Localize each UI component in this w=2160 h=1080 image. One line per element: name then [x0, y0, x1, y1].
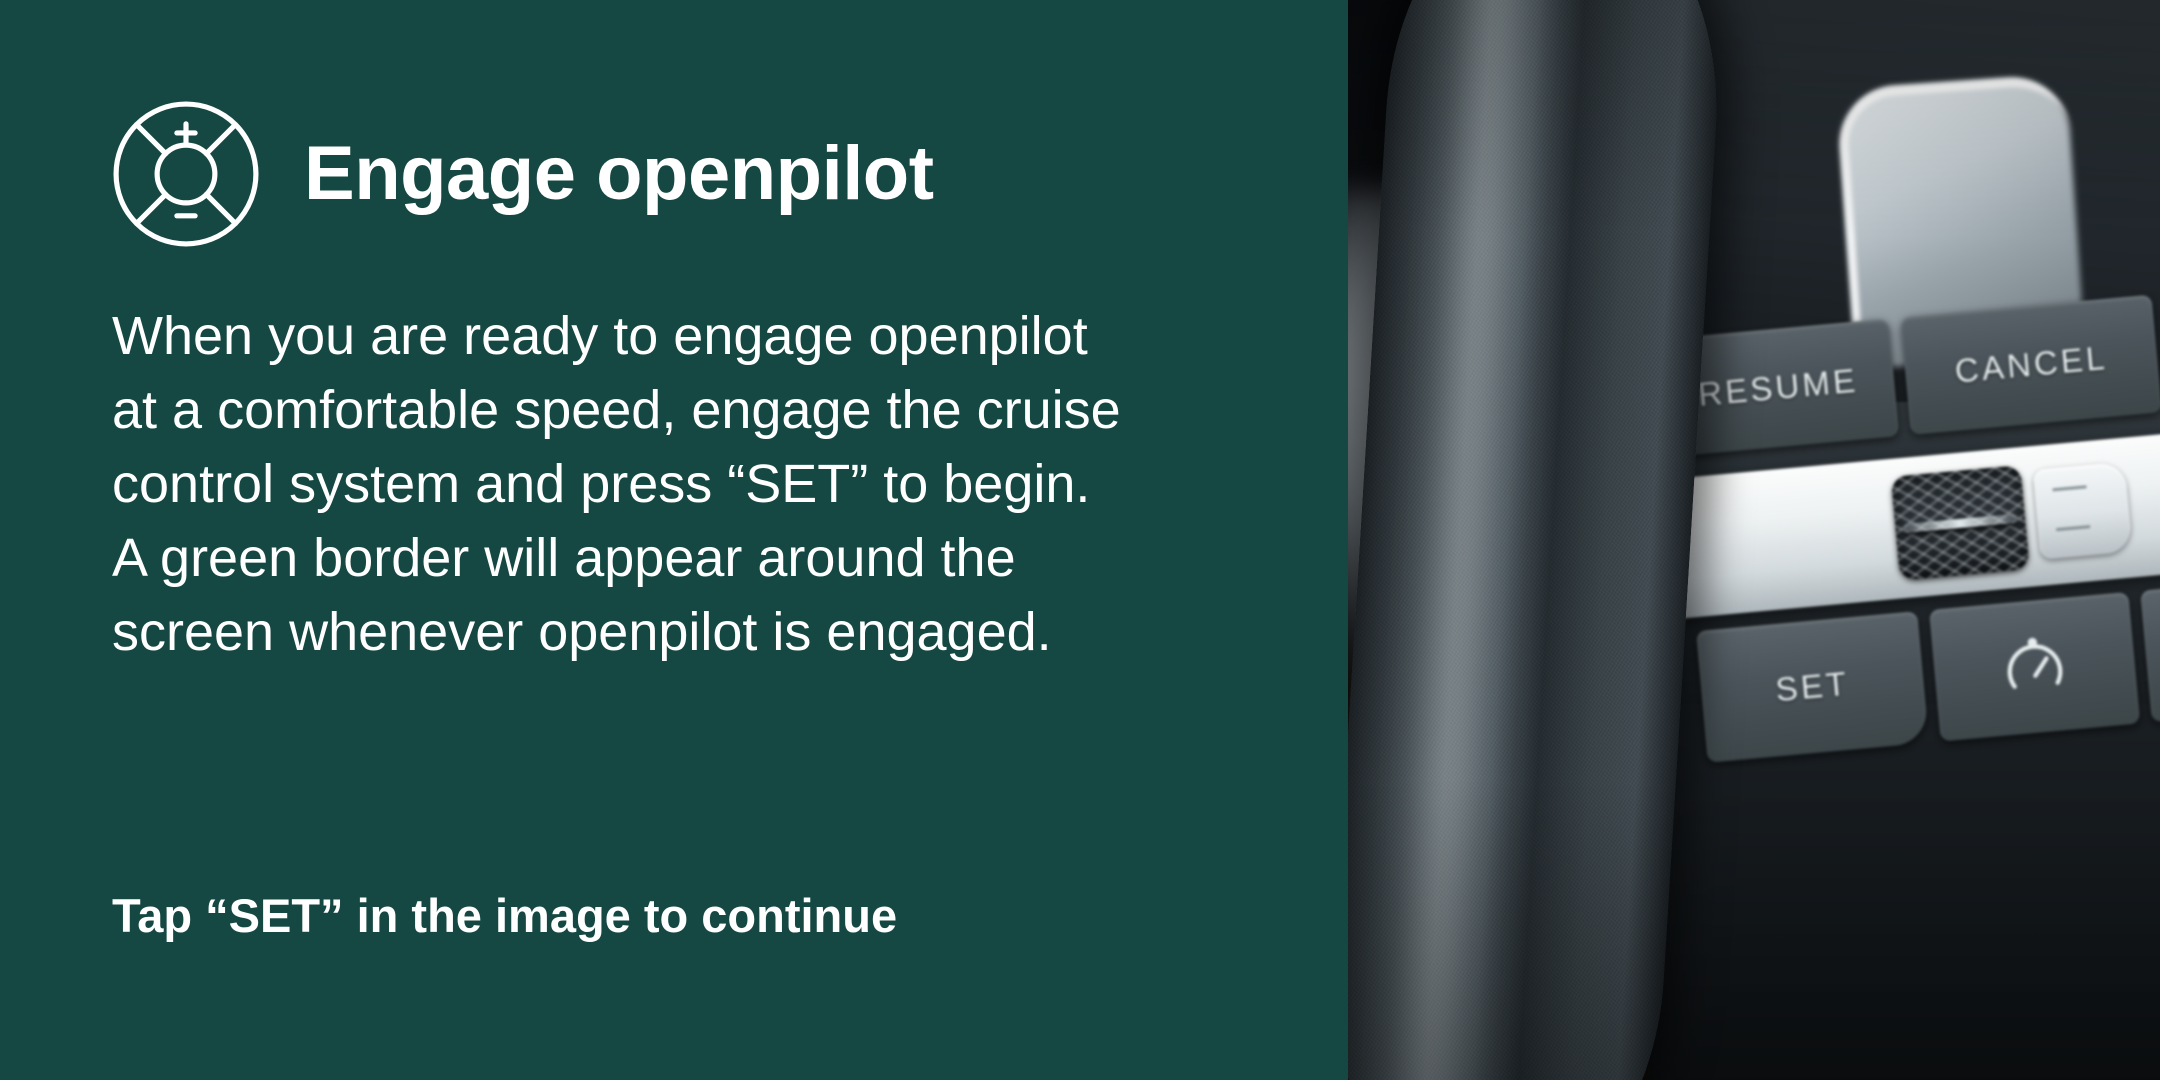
scroll-wheel[interactable] [1891, 465, 2030, 580]
cancel-button-label: CANCEL [1953, 339, 2109, 391]
cancel-button[interactable]: CANCEL [1900, 295, 2160, 435]
instruction-body-line: screen whenever openpilot is engaged. [112, 596, 1292, 670]
cruise-control-cluster: RESUME CANCEL SET [1623, 244, 2160, 823]
instruction-body-line: control system and press “SET” to begin. [112, 448, 1292, 522]
onboarding-screen: Engage openpilot When you are ready to e… [0, 0, 2160, 1080]
set-button[interactable]: SET [1696, 611, 1929, 763]
instruction-body-line: When you are ready to engage openpilot [112, 300, 1292, 374]
auxiliary-button[interactable] [2140, 580, 2160, 722]
instruction-body-line: A green border will appear around the [112, 522, 1292, 596]
speed-limit-button[interactable] [1929, 592, 2140, 742]
panel-header: Engage openpilot [110, 98, 934, 250]
speed-gauge-icon [1995, 628, 2073, 706]
instruction-body: When you are ready to engage openpilot a… [112, 300, 1292, 670]
call-to-action-text: Tap “SET” in the image to continue [112, 888, 897, 943]
page-title: Engage openpilot [304, 136, 934, 212]
cruise-control-icon [110, 98, 262, 250]
instruction-body-line: at a comfortable speed, engage the cruis… [112, 374, 1292, 448]
resume-button-label: RESUME [1697, 362, 1860, 414]
set-button-label: SET [1774, 665, 1851, 710]
steering-wheel-photo[interactable]: RESUME CANCEL SET [1348, 0, 2160, 1080]
instruction-panel: Engage openpilot When you are ready to e… [0, 0, 1348, 1080]
scroll-wheel-nub[interactable] [2033, 462, 2133, 560]
